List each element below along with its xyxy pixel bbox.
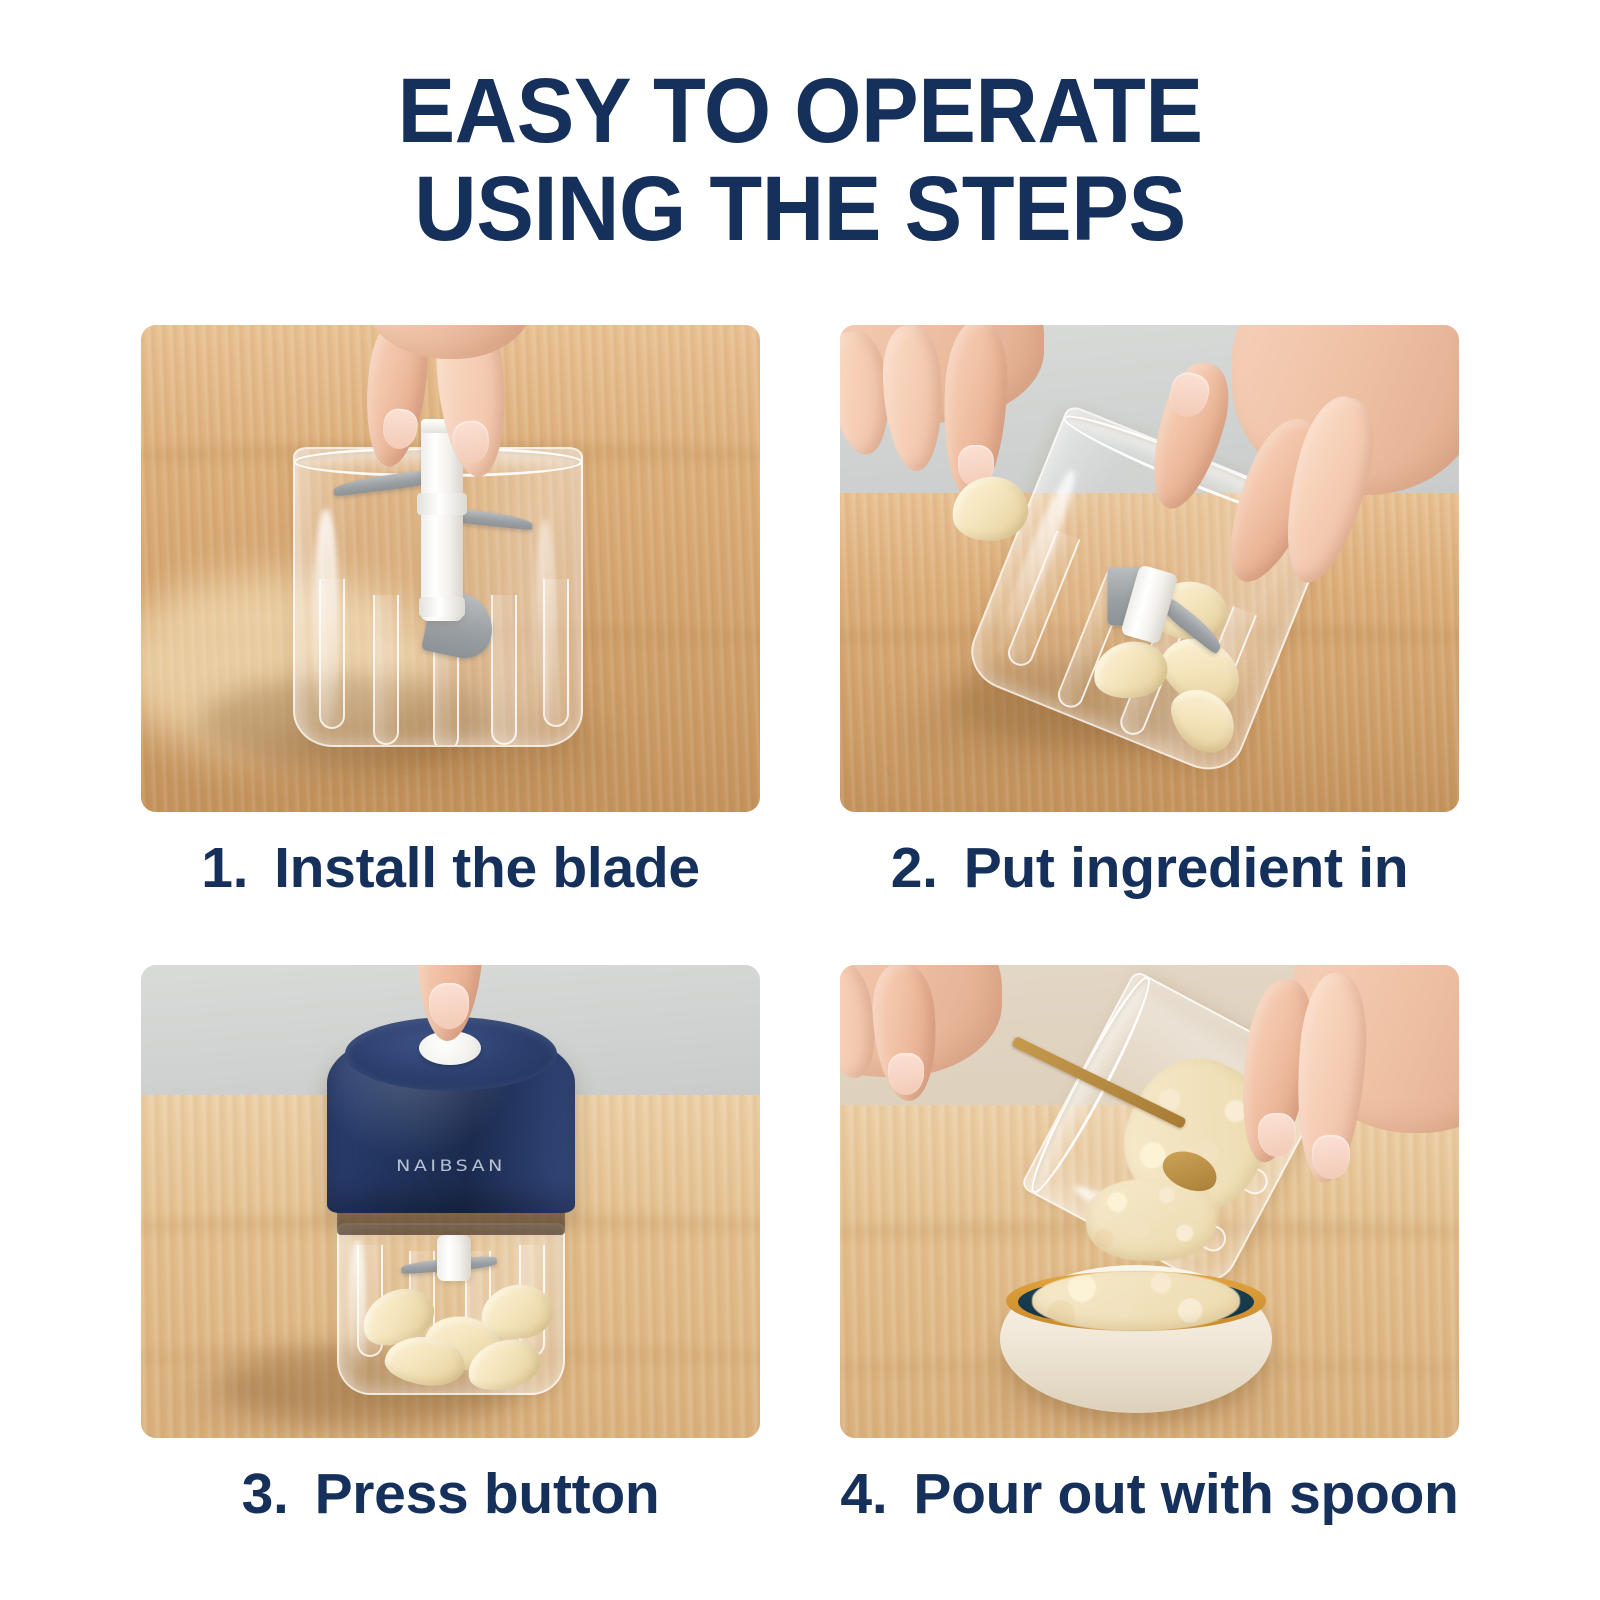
step-1-number: 1. bbox=[201, 840, 248, 897]
brand-logo: NAIBSAN bbox=[327, 1157, 575, 1176]
blade-shaft-ring bbox=[417, 493, 467, 515]
step-3-caption: 3. Press button bbox=[141, 1438, 760, 1570]
step-1-caption: 1. Install the blade bbox=[141, 812, 760, 965]
chopper-bowl bbox=[337, 1223, 565, 1395]
page-title-line-2: USING THE STEPS bbox=[48, 160, 1552, 258]
blade-shaft bbox=[437, 1235, 471, 1281]
steps-grid: 1. Install the blade 2. Put ingredient i… bbox=[141, 325, 1459, 1570]
minced-garlic-in-dish bbox=[1032, 1271, 1240, 1331]
step-4-photo bbox=[840, 965, 1459, 1438]
step-3-scene: NAIBSAN bbox=[141, 965, 760, 1438]
step-3-photo: NAIBSAN bbox=[141, 965, 760, 1438]
step-4-number: 4. bbox=[840, 1466, 887, 1523]
fingernail bbox=[1258, 1113, 1296, 1157]
step-1-scene bbox=[141, 325, 760, 812]
step-1-photo bbox=[141, 325, 760, 812]
page-title-line-1: EASY TO OPERATE bbox=[48, 62, 1552, 160]
step-2-number: 2. bbox=[891, 840, 938, 897]
blade-shaft-ring bbox=[419, 597, 465, 617]
step-2-scene bbox=[840, 325, 1459, 812]
step-4-caption: 4. Pour out with spoon bbox=[840, 1438, 1459, 1570]
step-2-photo bbox=[840, 325, 1459, 812]
fingernail bbox=[1312, 1135, 1350, 1179]
bowl-rib bbox=[491, 595, 517, 745]
bowl-highlight bbox=[313, 509, 339, 729]
step-3-label: Press button bbox=[315, 1466, 660, 1523]
page-title: EASY TO OPERATE USING THE STEPS bbox=[48, 62, 1552, 259]
bowl-highlight bbox=[535, 519, 555, 719]
step-3-number: 3. bbox=[242, 1466, 289, 1523]
bowl-rib bbox=[373, 595, 399, 745]
step-4-scene bbox=[840, 965, 1459, 1438]
step-1-label: Install the blade bbox=[274, 840, 700, 897]
step-2-caption: 2. Put ingredient in bbox=[840, 812, 1459, 965]
step-4-label: Pour out with spoon bbox=[913, 1466, 1458, 1523]
step-2-label: Put ingredient in bbox=[964, 840, 1409, 897]
fingernail bbox=[429, 983, 469, 1029]
fingernail bbox=[888, 1053, 924, 1095]
bowl-highlight bbox=[349, 1239, 365, 1369]
